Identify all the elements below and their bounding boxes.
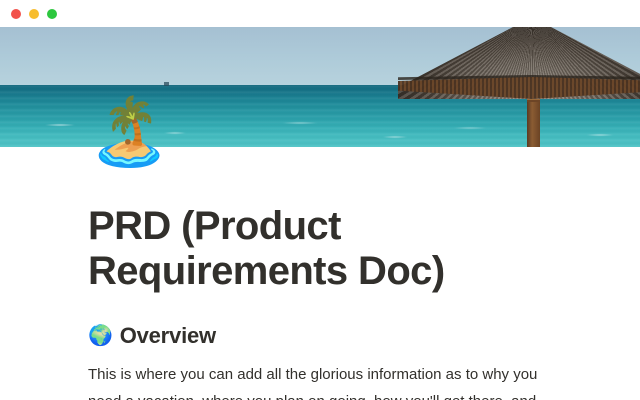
section-heading-overview[interactable]: 🌍 Overview	[88, 323, 568, 349]
close-window-button[interactable]	[11, 9, 21, 19]
app-window: 🏝️ PRD (Product Requirements Doc) 🌍 Over…	[0, 0, 640, 400]
page-title[interactable]: PRD (Product Requirements Doc)	[88, 204, 558, 294]
section-heading-label: Overview	[120, 323, 216, 349]
window-controls	[11, 9, 57, 19]
overview-paragraph[interactable]: This is where you can add all the glorio…	[88, 361, 556, 400]
document-page: 🏝️ PRD (Product Requirements Doc) 🌍 Over…	[0, 147, 640, 400]
minimize-window-button[interactable]	[29, 9, 39, 19]
distant-boat-icon	[164, 82, 169, 86]
maximize-window-button[interactable]	[47, 9, 57, 19]
window-titlebar	[0, 0, 640, 27]
beach-umbrella-image	[410, 27, 640, 147]
desert-island-emoji[interactable]: 🏝️	[88, 98, 170, 164]
globe-showing-europe-africa-icon: 🌍	[88, 326, 113, 346]
